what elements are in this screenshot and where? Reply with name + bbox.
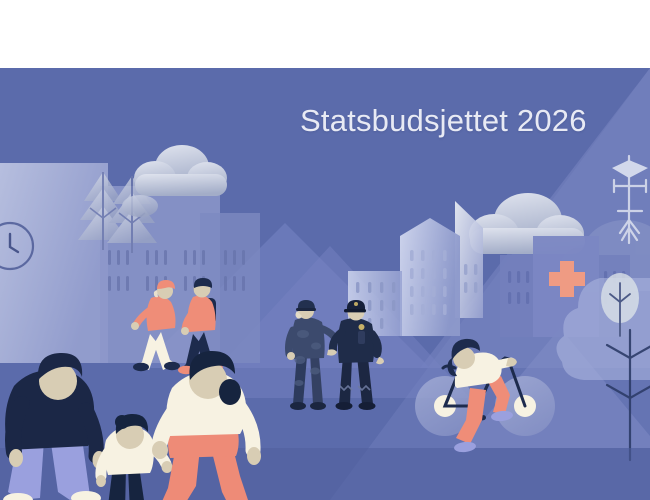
page-title: Statsbudsjettet 2026 xyxy=(300,103,587,139)
top-white-band xyxy=(0,0,650,68)
page-root: Statsbudsjettet 2026 xyxy=(0,0,650,500)
